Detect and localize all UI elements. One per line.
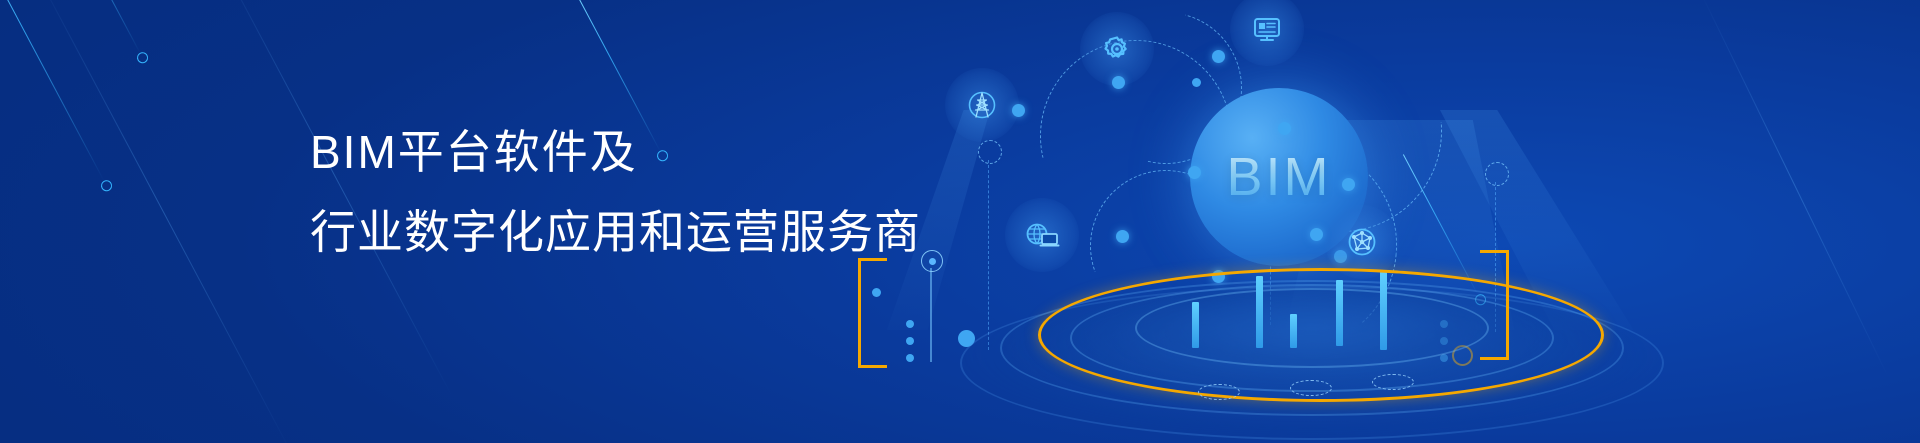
gold-dash-ellipse xyxy=(1372,374,1414,390)
gear-icon xyxy=(1101,33,1133,65)
sphere-node xyxy=(1278,122,1291,135)
decor-streak xyxy=(29,0,293,443)
connector-node xyxy=(1212,50,1225,63)
gold-dash-ellipse xyxy=(1198,384,1240,400)
gold-dash-ellipse xyxy=(1290,380,1332,396)
page-title: BIM平台软件及 行业数字化应用和运营服务商 xyxy=(310,112,921,272)
sphere-node xyxy=(1342,178,1355,191)
platform-disc xyxy=(960,250,1660,440)
connector-node xyxy=(1310,228,1323,241)
dot-column xyxy=(906,320,914,362)
guide-ring-icon xyxy=(978,140,1002,164)
headline-line-2: 行业数字化应用和运营服务商 xyxy=(310,192,921,272)
globe-laptop-icon xyxy=(1024,220,1060,250)
guide-ring-icon xyxy=(921,250,943,272)
power-tower-icon xyxy=(965,88,999,122)
bracket-right xyxy=(1480,250,1509,360)
hero-banner: BIM平台软件及 行业数字化应用和运营服务商 BI xyxy=(0,0,1920,443)
bracket-left xyxy=(858,258,887,368)
icon-bubble-gear[interactable] xyxy=(1080,12,1154,86)
guide-ring-icon xyxy=(1485,162,1509,186)
connector-node xyxy=(1012,104,1025,117)
bim-sphere-label: BIM xyxy=(1190,146,1368,208)
connector-node xyxy=(1116,230,1129,243)
monitor-icon xyxy=(1250,12,1284,46)
guide-line xyxy=(930,268,932,362)
icon-bubble-power-tower[interactable] xyxy=(945,68,1019,142)
bim-illustration: BIM xyxy=(840,0,1920,443)
decor-dot xyxy=(1192,78,1201,87)
connector-node xyxy=(1112,76,1125,89)
headline-line-1: BIM平台软件及 xyxy=(310,112,921,192)
sphere-node xyxy=(1188,166,1201,179)
